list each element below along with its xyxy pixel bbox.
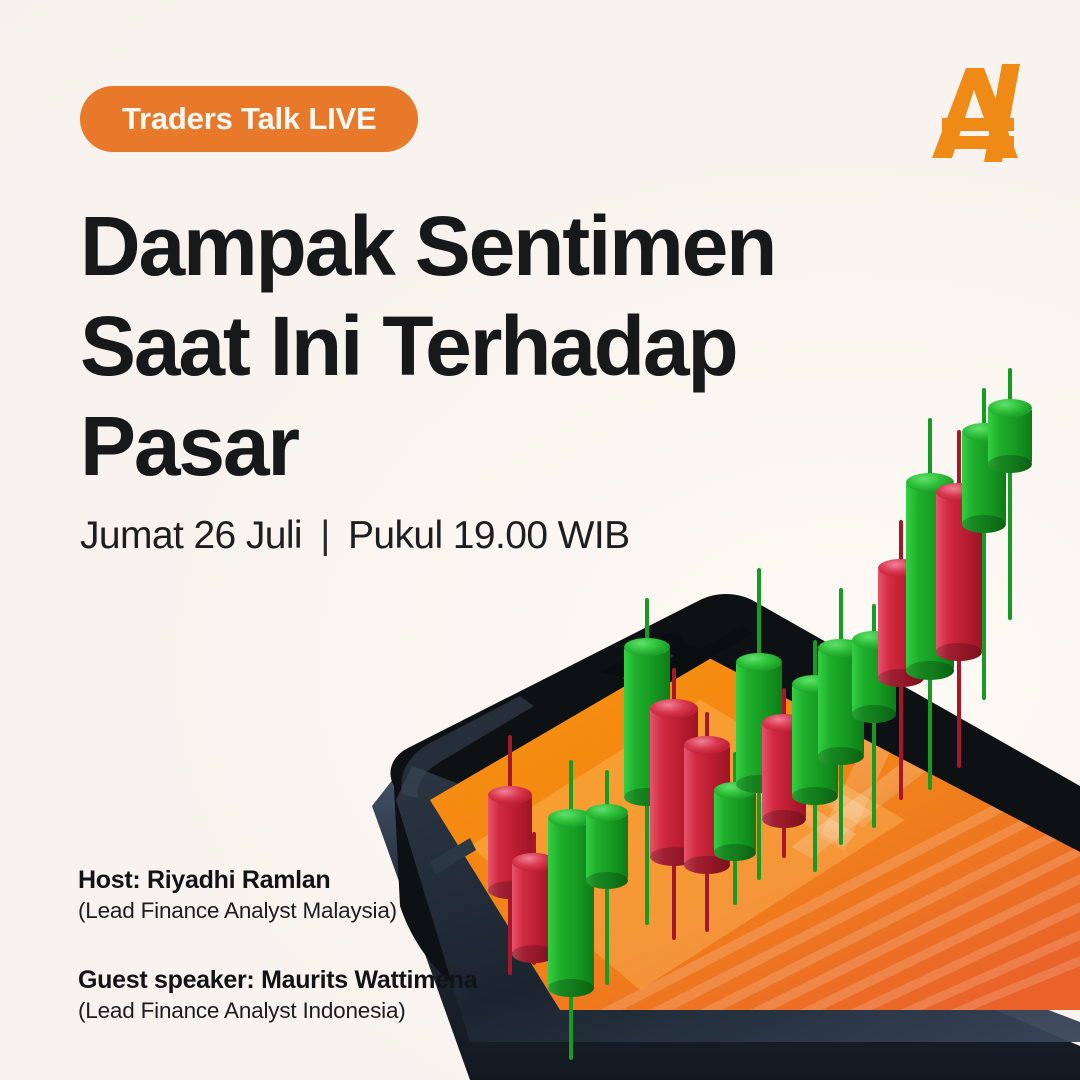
host-name: Host: Riyadhi Ramlan bbox=[78, 866, 477, 895]
speaker-credits: Host: Riyadhi Ramlan (Lead Finance Analy… bbox=[78, 866, 477, 1024]
headline-line-3: Pasar bbox=[80, 396, 840, 496]
candle-base-ellipse bbox=[988, 455, 1032, 473]
letter-a-currency-icon bbox=[932, 64, 1020, 162]
credit-guest: Guest speaker: Maurits Wattimena (Lead F… bbox=[78, 966, 477, 1024]
datetime-separator: | bbox=[312, 514, 338, 557]
guest-name: Guest speaker: Maurits Wattimena bbox=[78, 966, 477, 995]
event-date: Jumat 26 Juli bbox=[80, 514, 302, 557]
page-title: Dampak Sentimen Saat Ini Terhadap Pasar bbox=[80, 196, 840, 496]
candle-body bbox=[586, 812, 628, 880]
event-time: Pukul 19.00 WIB bbox=[348, 514, 629, 557]
live-badge[interactable]: Traders Talk LIVE bbox=[80, 86, 418, 152]
promo-card: Traders Talk LIVE Dampak Sentimen Saat I… bbox=[0, 0, 1080, 1080]
host-role: (Lead Finance Analyst Malaysia) bbox=[78, 898, 477, 924]
brand-logo bbox=[928, 62, 1032, 162]
guest-role: (Lead Finance Analyst Indonesia) bbox=[78, 998, 477, 1024]
headline-line-1: Dampak Sentimen bbox=[80, 196, 840, 296]
credit-host: Host: Riyadhi Ramlan (Lead Finance Analy… bbox=[78, 866, 477, 924]
headline-line-2: Saat Ini Terhadap bbox=[80, 296, 840, 396]
event-datetime: Jumat 26 Juli | Pukul 19.00 WIB bbox=[80, 514, 630, 558]
candle-top-ellipse bbox=[988, 399, 1032, 417]
candle-base-ellipse bbox=[586, 872, 628, 889]
live-badge-label: Traders Talk LIVE bbox=[122, 101, 376, 137]
candle-top-ellipse bbox=[586, 804, 628, 821]
